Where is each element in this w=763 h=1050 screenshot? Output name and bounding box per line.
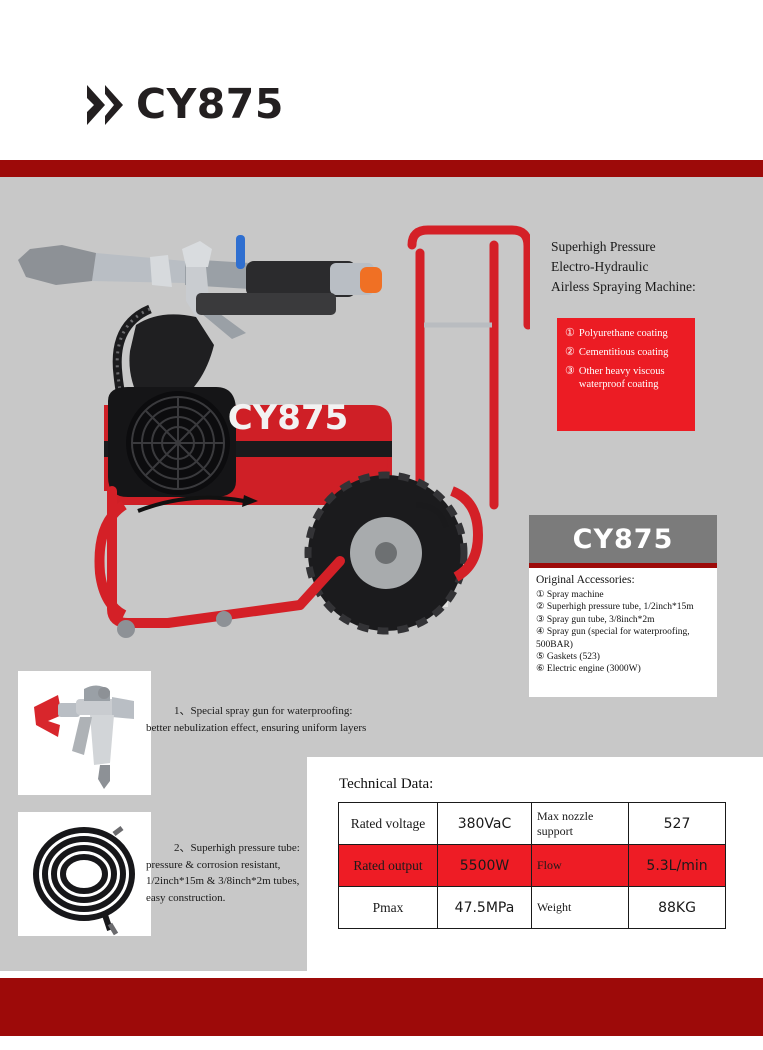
- table-cell-value: 527: [629, 803, 726, 845]
- table-cell-value: 5.3L/min: [629, 845, 726, 887]
- technical-data-table: Rated voltage 380VaC Max nozzle support …: [338, 802, 726, 929]
- accessory-item: ① Spray machine: [536, 589, 710, 601]
- product-photo: CY875: [0, 205, 530, 655]
- coating-item: ② Cementitious coating: [565, 346, 695, 359]
- feature-2-caption: 2、Superhigh pressure tube: pressure & co…: [146, 840, 321, 906]
- coating-label: Cementitious coating: [579, 346, 695, 359]
- circled-number-2-icon: ②: [565, 346, 575, 359]
- accessory-item: ④ Spray gun (special for waterproofing, …: [536, 626, 710, 651]
- table-row: Rated voltage 380VaC Max nozzle support …: [339, 803, 726, 845]
- table-cell-value: 380VaC: [438, 803, 532, 845]
- table-cell-label: Max nozzle support: [532, 803, 629, 845]
- accessory-item: ⑥ Electric engine (3000W): [536, 663, 710, 675]
- headline-line-1: Superhigh Pressure: [551, 237, 756, 257]
- page-header: CY875: [0, 0, 763, 160]
- feature-2-body-line: pressure & corrosion resistant,: [146, 857, 321, 874]
- header-rule: [0, 160, 763, 177]
- coating-item: ① Polyurethane coating: [565, 327, 695, 340]
- footer-bar: [0, 978, 763, 1036]
- table-row-highlighted: Rated output 5500W Flow 5.3L/min: [339, 845, 726, 887]
- table-cell-value: 47.5MPa: [438, 887, 532, 929]
- model-banner: CY875: [529, 515, 717, 563]
- table-cell-label: Rated voltage: [339, 803, 438, 845]
- feature-2-body-line: easy construction.: [146, 890, 321, 907]
- double-chevron-right-icon: [85, 82, 131, 128]
- accessories-title: Original Accessories:: [536, 574, 710, 586]
- page-title: CY875: [136, 80, 284, 128]
- product-headline: Superhigh Pressure Electro-Hydraulic Air…: [551, 237, 756, 297]
- coating-label: Polyurethane coating: [579, 327, 695, 340]
- table-cell-label: Flow: [532, 845, 629, 887]
- feature-1-caption: 1、Special spray gun for waterproofing: b…: [146, 703, 386, 737]
- coating-types-box: ① Polyurethane coating ② Cementitious co…: [557, 318, 695, 431]
- table-row: Pmax 47.5MPa Weight 88KG: [339, 887, 726, 929]
- coating-item: ③ Other heavy viscous waterproof coating: [565, 365, 695, 391]
- spray-gun-photo: [18, 671, 151, 795]
- circled-number-3-icon: ③: [565, 365, 575, 378]
- accessory-item: ② Superhigh pressure tube, 1/2inch*15m: [536, 601, 710, 613]
- headline-line-3: Airless Spraying Machine:: [551, 277, 756, 297]
- feature-2-heading: 2、Superhigh pressure tube:: [146, 840, 321, 857]
- feature-1-body-line: better nebulization effect, ensuring uni…: [146, 720, 386, 737]
- feature-1-heading: 1、Special spray gun for waterproofing:: [146, 703, 386, 720]
- model-banner-label: CY875: [573, 524, 674, 555]
- circled-number-1-icon: ①: [565, 327, 575, 340]
- coating-label: Other heavy viscous waterproof coating: [579, 365, 695, 391]
- pressure-hose-photo: [18, 812, 151, 936]
- accessory-item: ③ Spray gun tube, 3/8inch*2m: [536, 614, 710, 626]
- accessories-panel: Original Accessories: ① Spray machine ② …: [529, 568, 717, 697]
- feature-2-body-line: 1/2inch*15m & 3/8inch*2m tubes,: [146, 873, 321, 890]
- table-cell-label: Rated output: [339, 845, 438, 887]
- headline-line-2: Electro-Hydraulic: [551, 257, 756, 277]
- table-cell-value: 5500W: [438, 845, 532, 887]
- technical-data-panel: Technical Data: Rated voltage 380VaC Max…: [307, 757, 763, 978]
- product-body-label: CY875: [228, 398, 349, 438]
- technical-data-title: Technical Data:: [339, 776, 433, 793]
- table-cell-value: 88KG: [629, 887, 726, 929]
- table-cell-label: Weight: [532, 887, 629, 929]
- table-cell-label: Pmax: [339, 887, 438, 929]
- accessory-item: ⑤ Gaskets (523): [536, 651, 710, 663]
